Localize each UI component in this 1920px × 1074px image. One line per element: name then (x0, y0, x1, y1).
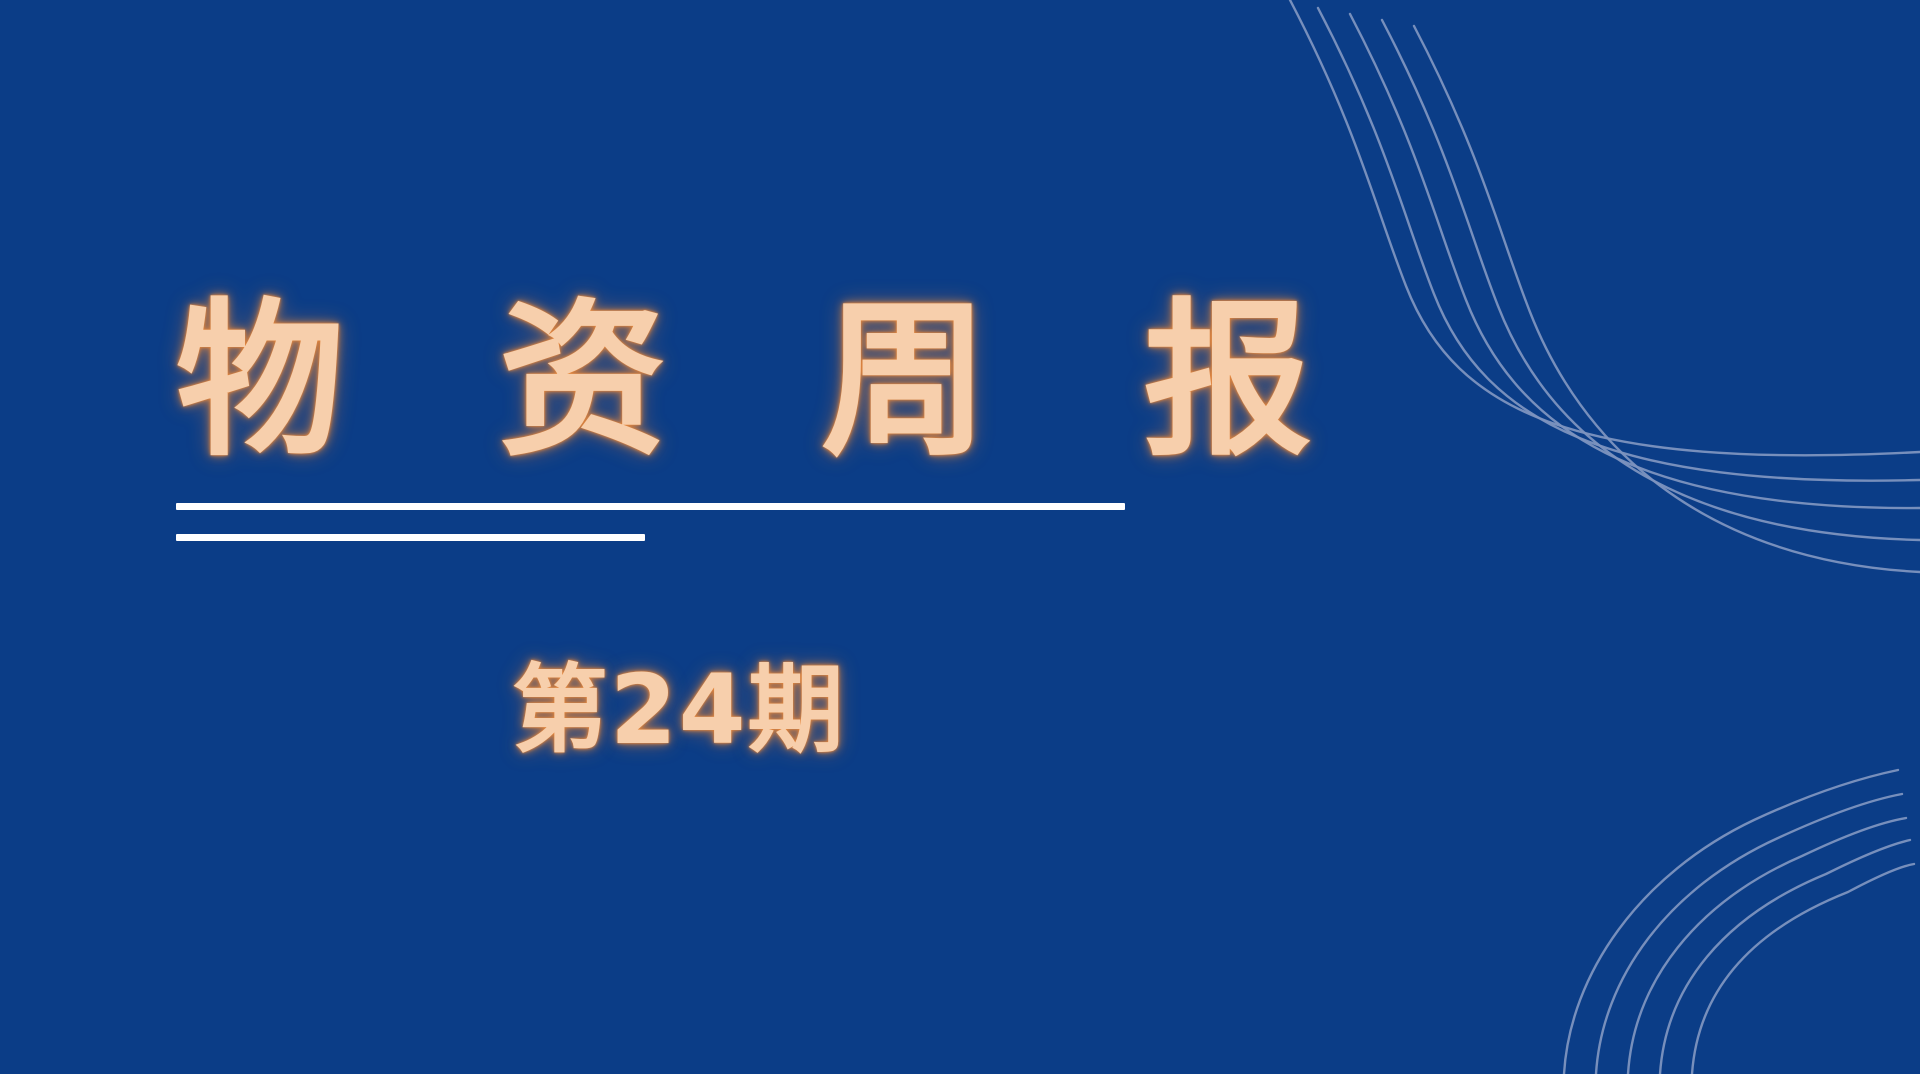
wave-line-4 (1382, 20, 1920, 540)
arc-line-2 (1596, 794, 1902, 1074)
title-rule-short (176, 534, 645, 541)
arc-line-4 (1660, 840, 1910, 1074)
wave-line-2 (1318, 8, 1920, 481)
wave-line-3 (1350, 14, 1920, 508)
title-block: 物 资 周 报 (176, 296, 1276, 467)
page-title: 物 资 周 报 (176, 296, 1276, 467)
bottom-right-waves-decoration (1490, 734, 1920, 1074)
top-right-waves-decoration (1280, 0, 1920, 620)
arc-line-1 (1564, 770, 1898, 1074)
arc-line-5 (1692, 864, 1914, 1074)
issue-subtitle: 第24期 (512, 662, 846, 758)
wave-line-5 (1414, 26, 1920, 572)
arc-line-3 (1628, 818, 1906, 1074)
title-rule-long (176, 503, 1125, 510)
title-slide: 物 资 周 报 第24期 (0, 0, 1920, 1074)
wave-line-1 (1290, 0, 1920, 455)
